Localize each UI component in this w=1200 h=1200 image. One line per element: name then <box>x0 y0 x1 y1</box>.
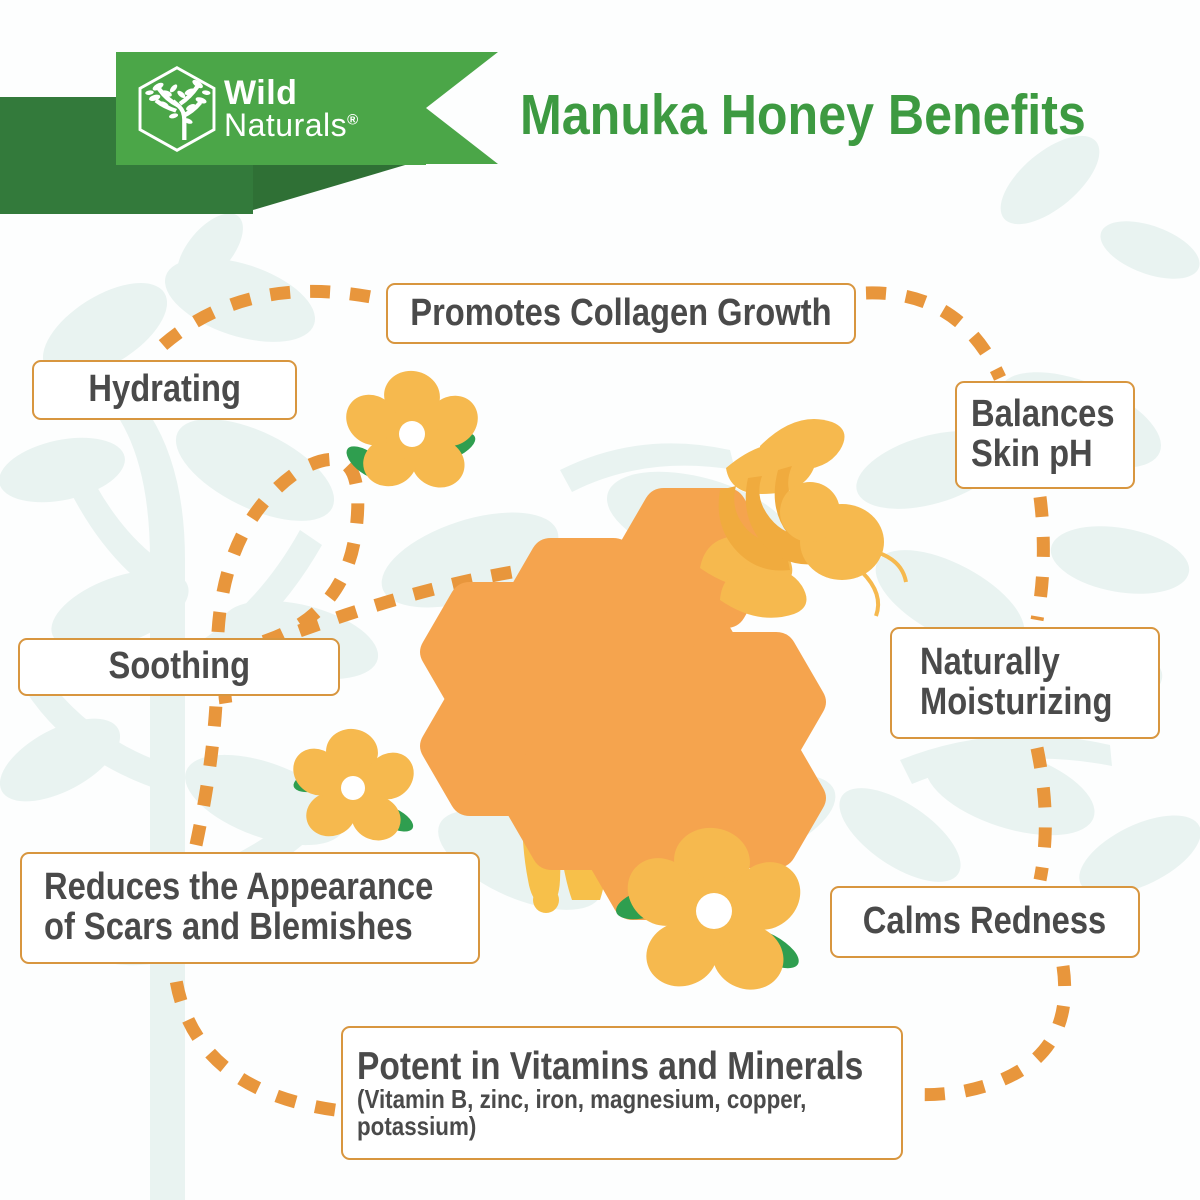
flower-icon-top <box>336 367 488 496</box>
benefit-box-naturally-moisturizing[interactable]: Naturally Moisturizing <box>890 627 1160 739</box>
page-title: Manuka Honey Benefits <box>520 82 1101 148</box>
benefit-box-hydrating[interactable]: Hydrating <box>32 360 297 420</box>
benefit-label-line2: Skin pH <box>971 435 1110 475</box>
benefit-label: Soothing <box>108 647 250 687</box>
bee-icon <box>700 419 906 618</box>
benefit-label: Potent in Vitamins and Minerals <box>357 1047 825 1086</box>
flower-center <box>696 893 732 929</box>
benefit-label-line2: of Scars and Blemishes <box>44 908 417 948</box>
benefit-label-line1: Balances <box>971 395 1110 435</box>
benefit-sublabel-line2: potassium) <box>357 1113 825 1140</box>
benefit-box-collagen[interactable]: Promotes Collagen Growth <box>386 283 856 344</box>
benefit-label-line2: Moisturizing <box>920 683 1125 723</box>
flower-icon-left <box>284 726 424 848</box>
honey-illustration <box>0 0 1200 1200</box>
benefit-box-soothing[interactable]: Soothing <box>18 638 340 696</box>
benefit-label: Calms Redness <box>863 902 1106 942</box>
flower-center <box>399 421 425 447</box>
infographic-canvas: Wild Naturals® Manuka Honey Benefits <box>0 0 1200 1200</box>
benefit-label: Promotes Collagen Growth <box>410 294 831 334</box>
benefit-label-line1: Naturally <box>920 643 1125 683</box>
benefit-box-potent-vitamins[interactable]: Potent in Vitamins and Minerals (Vitamin… <box>341 1026 903 1160</box>
benefit-box-calms-redness[interactable]: Calms Redness <box>830 886 1140 958</box>
benefit-label-line1: Reduces the Appearance <box>44 868 417 908</box>
flower-center <box>341 776 365 800</box>
benefit-box-reduces-scars[interactable]: Reduces the Appearance of Scars and Blem… <box>20 852 480 964</box>
benefit-sublabel-line1: (Vitamin B, zinc, iron, magnesium, coppe… <box>357 1086 825 1113</box>
benefit-label: Hydrating <box>88 370 241 410</box>
benefit-box-balances-skin-ph[interactable]: Balances Skin pH <box>955 381 1135 489</box>
